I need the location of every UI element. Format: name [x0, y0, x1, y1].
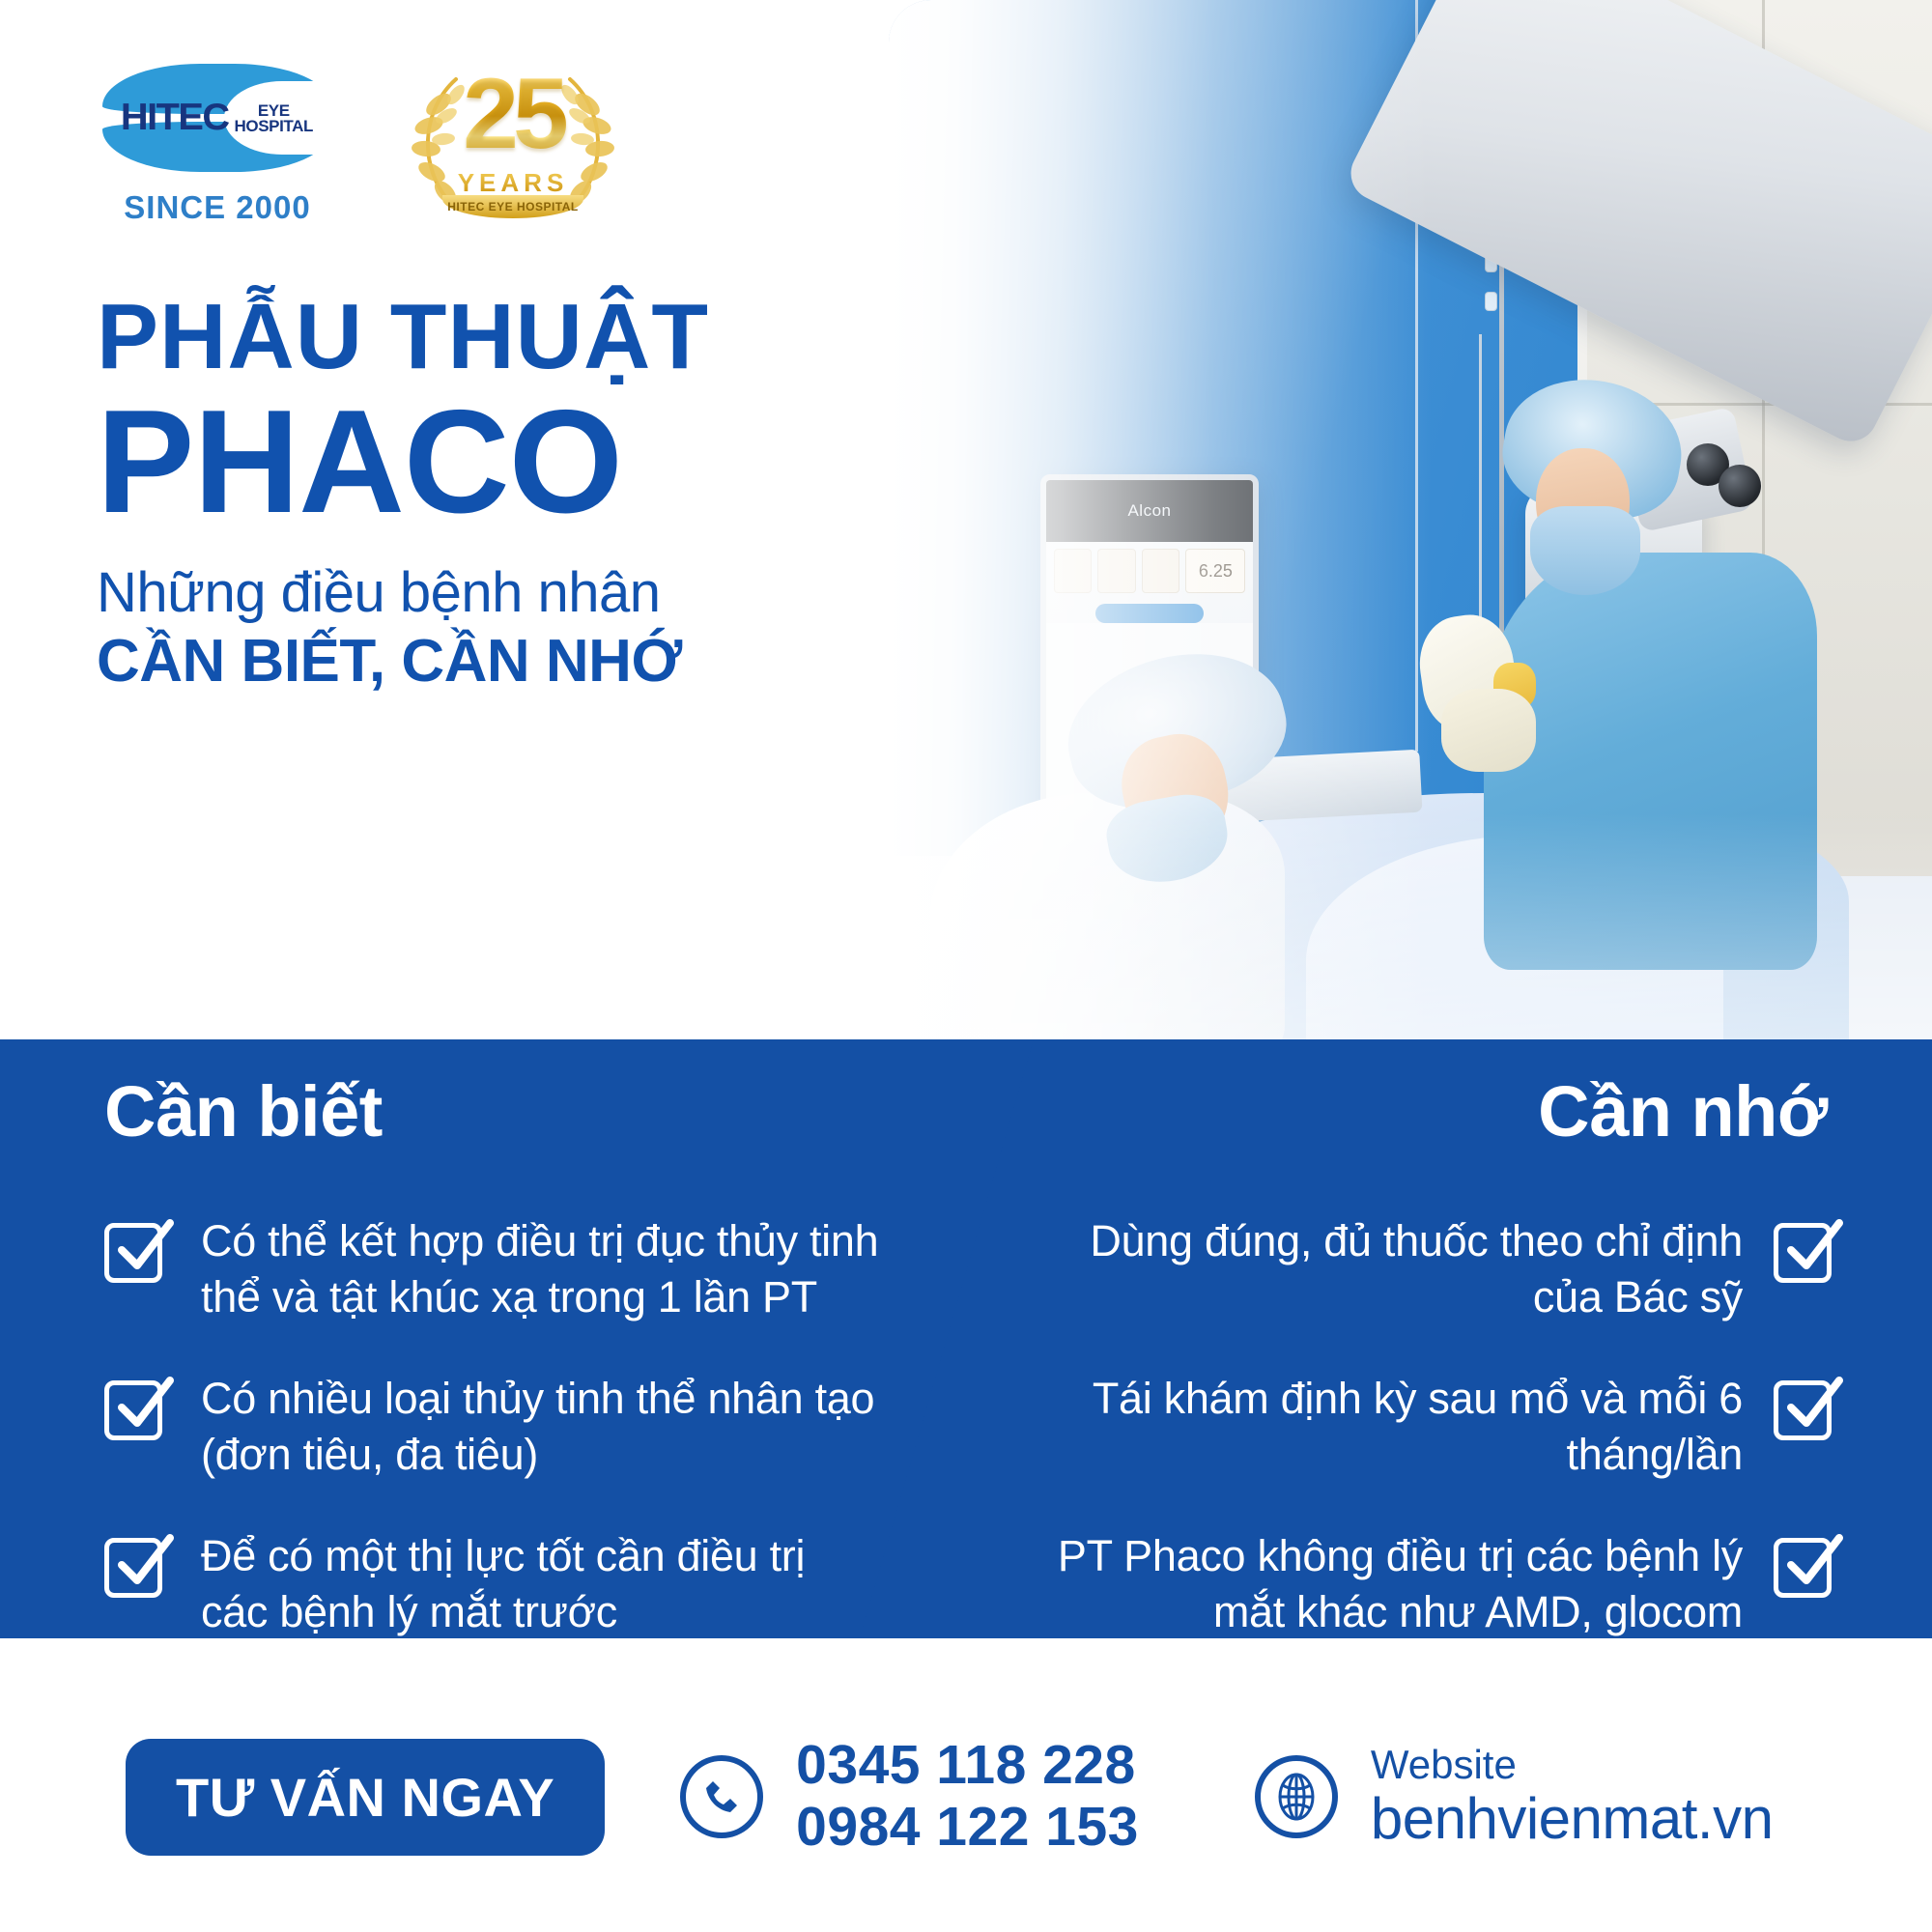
panel-can-nho: Cần nhớ Dùng đúng, đủ thuốc theo chỉ địn… [860, 1039, 1932, 1638]
list-item-label: Để có một thị lực tốt cần điều trị các b… [201, 1528, 879, 1639]
phone-number-secondary[interactable]: 0984 122 153 [796, 1797, 1139, 1859]
globe-icon [1255, 1755, 1338, 1838]
anniversary-ribbon: HITEC EYE HOSPITAL [442, 195, 583, 218]
iv-drip-connector [1485, 292, 1497, 311]
checkbox-checked-icon [1774, 1534, 1839, 1600]
list-item[interactable]: Tái khám định kỳ sau mổ và mỗi 6 tháng/l… [860, 1371, 1932, 1482]
phone-icon [680, 1755, 763, 1838]
globe-glyph [1270, 1771, 1322, 1823]
website-label: Website [1371, 1743, 1774, 1787]
eye-logo-icon: HITEC EYE HOSPITAL [97, 60, 338, 176]
checkbox-checked-icon [1774, 1377, 1839, 1442]
list-item-label: Tái khám định kỳ sau mổ và mỗi 6 tháng/l… [1034, 1371, 1743, 1482]
list-item-label: Có thể kết hợp điều trị đục thủy tinh th… [201, 1213, 879, 1324]
contact-footer: TƯ VẤN NGAY 0345 118 228 0984 122 153 [0, 1662, 1932, 1932]
checkbox-checked-icon [104, 1377, 170, 1442]
info-panels: Cần biết Có thể kết hợp điều trị đục thủ… [0, 1039, 1932, 1638]
list-item[interactable]: Dùng đúng, đủ thuốc theo chỉ định của Bá… [860, 1213, 1932, 1324]
anniversary-badge: 25 YEARS HITEC EYE HOSPITAL [392, 60, 634, 214]
headline-line-1: PHẪU THUẬT [97, 290, 869, 384]
list-item-label: PT Phaco không điều trị các bệnh lý mắt … [1034, 1528, 1743, 1639]
checklist-can-nho: Dùng đúng, đủ thuốc theo chỉ định của Bá… [860, 1213, 1932, 1687]
list-item[interactable]: Có thể kết hợp điều trị đục thủy tinh th… [0, 1213, 1072, 1324]
logo-brand-name: HITEC [121, 97, 229, 139]
website-contact-group[interactable]: Website benhvienmat.vn [1255, 1743, 1774, 1851]
anniversary-ribbon-label: HITEC EYE HOSPITAL [447, 200, 578, 213]
phone-contact-group[interactable]: 0345 118 228 0984 122 153 [680, 1735, 1139, 1859]
headline-line-2: PHACO [97, 388, 869, 535]
photo-scene: Alcon 6.25 660 30 [889, 0, 1932, 1043]
poster-root: Alcon 6.25 660 30 [0, 0, 1932, 1932]
anniversary-number: 25 [392, 64, 634, 164]
brand-header: HITEC EYE HOSPITAL SINCE 2000 [97, 60, 634, 226]
logo-sub-wordmark: EYE HOSPITAL [235, 101, 314, 133]
anniversary-years-label: YEARS [392, 168, 634, 198]
checkbox-checked-icon [1774, 1219, 1839, 1285]
headline-block: PHẪU THUẬT PHACO Những điều bệnh nhân CẦ… [97, 290, 869, 696]
since-label: SINCE 2000 [97, 189, 338, 226]
panel-title-can-biet: Cần biết [104, 1070, 383, 1152]
logo-wordmark: HITEC EYE HOSPITAL [97, 97, 338, 139]
hospital-logo: HITEC EYE HOSPITAL SINCE 2000 [97, 60, 338, 226]
headline-subtitle-2: CẦN BIẾT, CẦN NHỚ [97, 628, 869, 696]
surgeon-face-mask [1530, 506, 1639, 595]
checkbox-checked-icon [104, 1219, 170, 1285]
checkbox-checked-icon [104, 1534, 170, 1600]
panel-can-nho-inner: Cần nhớ Dùng đúng, đủ thuốc theo chỉ địn… [860, 1039, 1932, 1638]
phone-numbers: 0345 118 228 0984 122 153 [796, 1735, 1139, 1859]
photo-bottom-fade [889, 813, 1932, 1043]
surgeon-glove-second [1441, 689, 1535, 772]
website-text: Website benhvienmat.vn [1371, 1743, 1774, 1851]
list-item-label: Dùng đúng, đủ thuốc theo chỉ định của Bá… [1034, 1213, 1743, 1324]
surgery-photo: Alcon 6.25 660 30 [889, 0, 1932, 1043]
website-url[interactable]: benhvienmat.vn [1371, 1787, 1774, 1851]
phone-handset-glyph [698, 1774, 745, 1820]
list-item-label: Có nhiều loại thủy tinh thể nhân tạo (đơ… [201, 1371, 879, 1482]
iv-tube [1479, 334, 1482, 626]
consult-now-button[interactable]: TƯ VẤN NGAY [126, 1739, 605, 1856]
list-item[interactable]: PT Phaco không điều trị các bệnh lý mắt … [860, 1528, 1932, 1639]
microscope-eyepiece [1719, 465, 1761, 507]
panel-title-can-nho: Cần nhớ [1538, 1070, 1828, 1152]
headline-subtitle-1: Những điều bệnh nhân [97, 560, 869, 626]
logo-sub-hospital: HOSPITAL [235, 119, 314, 134]
phone-number-primary[interactable]: 0345 118 228 [796, 1735, 1139, 1797]
